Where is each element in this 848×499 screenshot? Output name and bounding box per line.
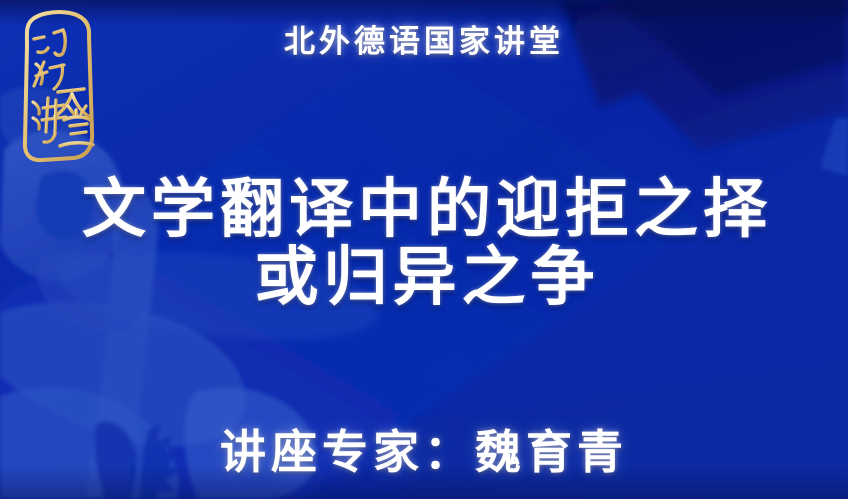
lecture-title-line-1: 文学翻译中的迎拒之择 [0,176,848,244]
speaker-line: 讲座专家：魏育青 [0,416,848,482]
lecture-title-slide: 北外德语国家讲堂 文学翻译中的迎拒之择 或归异之争 讲座专家：魏育青 [0,0,848,499]
program-title: 北外德语国家讲堂 [0,16,848,61]
lecture-title: 文学翻译中的迎拒之择 或归异之争 [0,176,848,312]
slide-content: 北外德语国家讲堂 文学翻译中的迎拒之择 或归异之争 讲座专家：魏育青 [0,0,848,499]
lecture-title-line-2: 或归异之争 [0,244,848,312]
